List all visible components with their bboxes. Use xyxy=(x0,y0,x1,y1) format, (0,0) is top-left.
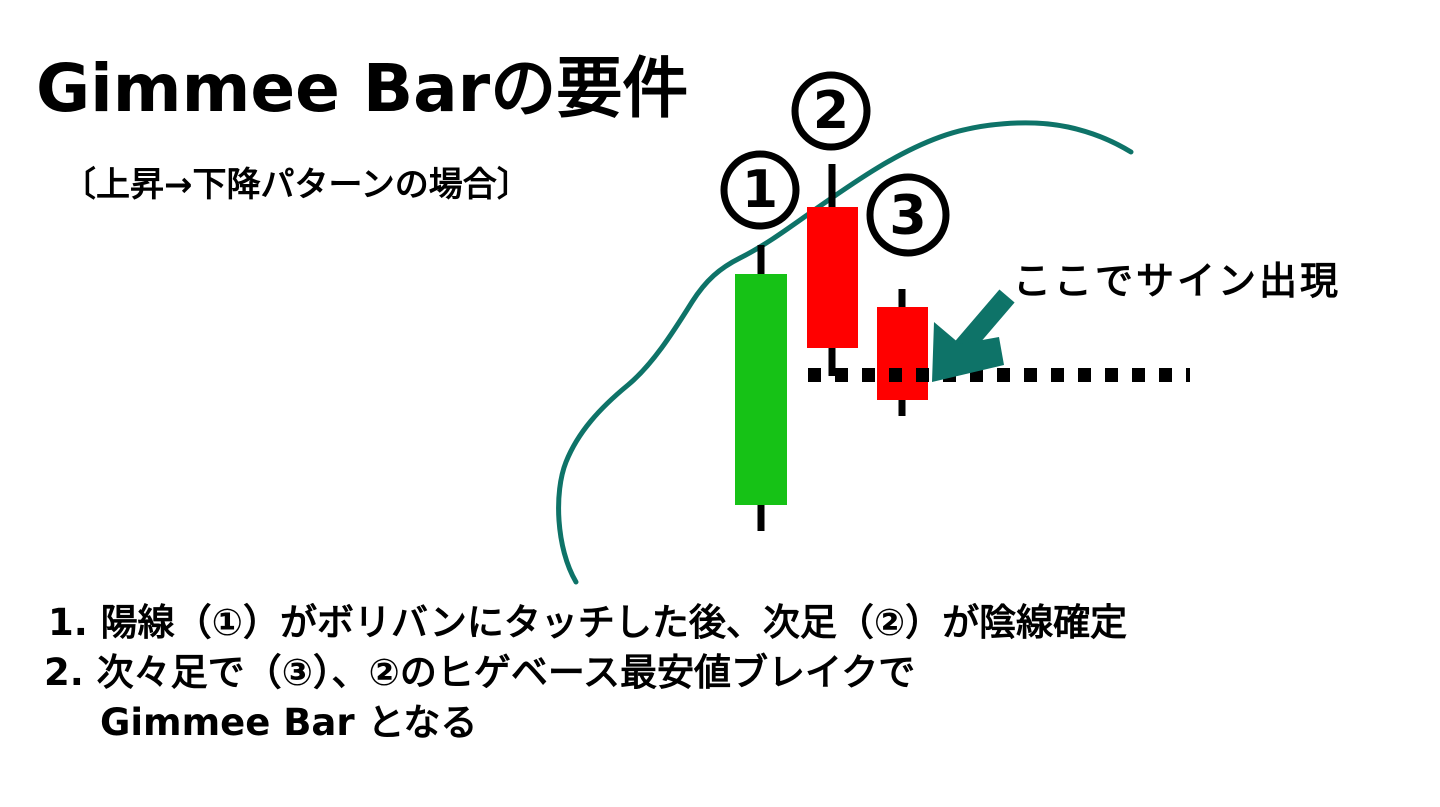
svg-text:3: 3 xyxy=(889,184,927,247)
marker-3: 3 xyxy=(870,177,946,253)
candle-3-bearish xyxy=(877,289,928,416)
candle-2-body xyxy=(807,207,858,348)
list-item: 1. 陽線（①）がボリバンにタッチした後、次足（②）が陰線確定 xyxy=(48,598,1440,648)
slide-canvas: Gimmee Barの要件 〔上昇→下降パターンの場合〕 xyxy=(0,0,1440,807)
requirements-list: 1. 陽線（①）がボリバンにタッチした後、次足（②）が陰線確定 2. 次々足で（… xyxy=(0,598,1440,748)
candlestick-diagram: 1 2 3 xyxy=(0,0,1440,620)
list-item: Gimmee Bar となる xyxy=(100,698,1440,748)
sign-annotation-label: ここでサイン出現 xyxy=(1013,250,1341,305)
arrow-down-left-icon xyxy=(932,296,1007,382)
svg-text:1: 1 xyxy=(742,160,778,220)
marker-2: 2 xyxy=(795,75,867,147)
candle-1-body xyxy=(735,274,787,505)
svg-text:2: 2 xyxy=(813,81,849,141)
list-item: 2. 次々足で（③）、②のヒゲベース最安値ブレイクで xyxy=(44,648,1440,698)
candle-3-body xyxy=(877,307,928,400)
candle-2-bearish xyxy=(807,164,858,376)
bollinger-band-curve xyxy=(559,123,1131,582)
candle-1-bullish xyxy=(735,245,787,531)
marker-1: 1 xyxy=(724,154,796,226)
